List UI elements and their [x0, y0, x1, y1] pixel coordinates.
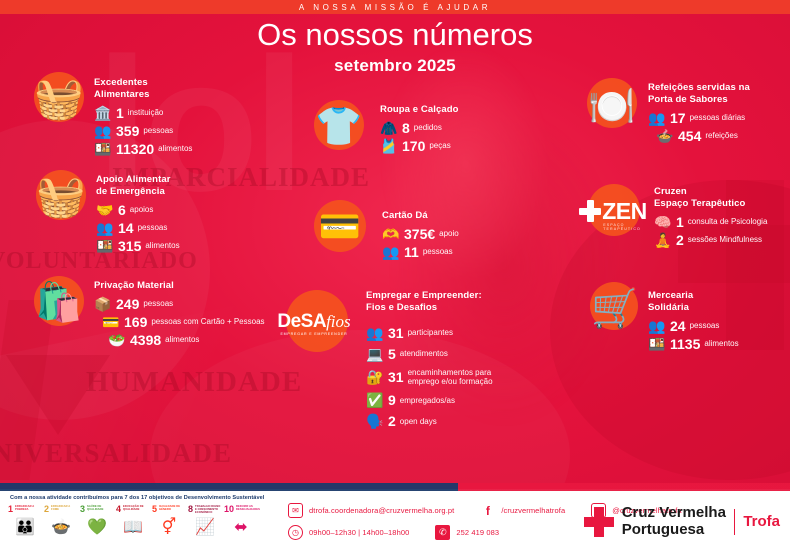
helping-hands-icon: 🤝 [96, 203, 114, 217]
stat-value: 2 [676, 233, 684, 247]
brain-hands-icon: 🧠 [654, 215, 672, 229]
stat-value: 315 [118, 239, 141, 253]
sdg-number: 8 [188, 505, 193, 514]
stat-label: instituição [128, 108, 164, 117]
stat-value: 31 [388, 370, 404, 384]
mission-strip-text: A NOSSA MISSÃO É AJUDAR [299, 3, 491, 12]
desafios-logo-main: DeSA [277, 311, 326, 332]
groceries-card-icon: 🛍️ [35, 284, 82, 322]
section-roupa-e-calcado: 👕 Roupa e Calçado 🧥 8 pedidos 🎽 170 peça… [308, 96, 459, 158]
stat-label: pessoas com Cartão + Pessoas [151, 317, 264, 326]
section-icon-wrap: ZEN ESPAÇO TERAPÊUTICO [574, 180, 652, 242]
stat-label: apoios [130, 205, 154, 214]
hand-holding-card-icon: 💳 [319, 210, 361, 244]
stat-row: ✅ 9 empregados/as [366, 393, 493, 407]
stat-label: peças [429, 141, 450, 150]
sdg-goal-8: 8 TRABALHO DIGNO E CRESCIMENTO ECONÓMICO… [188, 505, 222, 538]
sdg-growth-icon: 📈 [188, 516, 222, 538]
sdg-heartbeat-icon: 💚 [80, 516, 114, 538]
sdg-goal-4: 4 EDUCAÇÃO DE QUALIDADE 📖 [116, 505, 150, 538]
section-title: Roupa e Calçado [380, 104, 459, 116]
stat-value: 454 [678, 129, 701, 143]
stat-row: 🧠 1 consulta de Psicologia [654, 215, 767, 229]
sdg-goal-5: 5 IGUALDADE DE GÉNERO ⚥ [152, 505, 186, 538]
stat-row: 🍱 315 alimentos [96, 239, 180, 253]
stat-label: pessoas [138, 223, 168, 232]
stat-value: 170 [402, 139, 425, 153]
stat-value: 9 [388, 393, 396, 407]
sdg-number: 2 [44, 505, 49, 514]
institution-icon: 🏛️ [94, 106, 112, 120]
stat-row: 🥗 4398 alimentos [108, 333, 265, 347]
stat-label: pessoas [143, 126, 173, 135]
stat-value: 4398 [130, 333, 161, 347]
sdg-bowl-icon: 🍲 [44, 516, 78, 538]
stat-label: atendimentos [400, 349, 448, 358]
people-group-icon: 👥 [648, 319, 666, 333]
grocery-box-icon: 📦 [94, 297, 112, 311]
stat-value: 1 [676, 215, 684, 229]
sdg-goal-1: 1 ERRADICAR A POBREZA 👪 [8, 505, 42, 538]
shopping-basket-food-icon: 🧺 [34, 79, 84, 119]
section-icon-wrap: 💳 [300, 196, 380, 258]
section-icon-wrap: DeSAfios EMPREGAR E EMPREENDER [266, 290, 362, 356]
section-title: Excedentes Alimentares [94, 77, 192, 101]
stat-row: 🏛️ 1 instituição [94, 106, 192, 120]
stat-row: 👥 17 pessoas diárias [648, 111, 750, 125]
stat-label: alimentos [158, 144, 192, 153]
stat-label: pessoas [690, 321, 720, 330]
red-cross-icon [584, 507, 614, 537]
section-body: Apoio Alimentar de Emergência 🤝 6 apoios… [96, 174, 180, 257]
sdg-equality-icon: ⬌ [224, 516, 258, 538]
section-body: Roupa e Calçado 🧥 8 pedidos 🎽 170 peças [380, 104, 459, 157]
stat-label: alimentos [704, 339, 738, 348]
section-icon-wrap: 🛒 [584, 278, 646, 340]
sdg-number: 4 [116, 505, 121, 514]
stat-value: 249 [116, 297, 139, 311]
sdg-text: SAÚDE DE QUALIDADE [87, 505, 114, 511]
section-icon-wrap: 🧺 [30, 166, 92, 228]
stat-row: 🫶 375€ apoio [382, 227, 459, 241]
stat-label: apoio [439, 229, 459, 238]
sdg-number: 3 [80, 505, 85, 514]
section-title: Cruzen Espaço Terapêutico [654, 186, 767, 210]
clothes-hanger-icon: 🧥 [380, 121, 398, 135]
phone-icon: ✆ [435, 525, 450, 540]
brand-city: Trofa [743, 513, 780, 530]
page-title: Os nossos números [0, 18, 790, 52]
stat-value: 6 [118, 203, 126, 217]
section-icon-wrap: 🛍️ [26, 272, 92, 334]
stat-value: 1135 [670, 337, 700, 351]
sdg-text: IGUALDADE DE GÉNERO [159, 505, 186, 511]
desafios-logo-script: fios [326, 312, 351, 331]
food-crate-icon: 🍱 [96, 239, 114, 253]
stat-value: 375€ [404, 227, 435, 241]
sdg-note: Com a nossa atividade contribuímos para … [10, 495, 264, 501]
zen-logo-text: ZEN [602, 198, 647, 225]
section-refeicoes-porta-de-sabores: 🍽️ Refeições servidas na Porta de Sabore… [578, 76, 750, 147]
desk-service-icon: 💻 [366, 347, 384, 361]
people-group-icon: 👥 [648, 111, 666, 125]
stat-label: empregados/as [400, 396, 455, 405]
brand-logo: Cruz Vermelha Portuguesa Trofa [584, 505, 780, 538]
desafios-logo-sub: EMPREGAR E EMPREENDER [277, 332, 350, 336]
facebook-text[interactable]: /cruzvermelhatrofa [501, 506, 565, 515]
stat-value: 24 [670, 319, 686, 333]
stat-row: 📦 249 pessoas [94, 297, 265, 311]
soup-bowl-icon: 🍲 [656, 129, 674, 143]
stat-label: pessoas [423, 247, 453, 256]
stat-value: 1 [116, 106, 124, 120]
stat-row: 💻 5 atendimentos [366, 347, 493, 361]
stat-row: 👥 31 participantes [366, 326, 493, 340]
section-cruzen-espaco-terapeutico: ZEN ESPAÇO TERAPÊUTICO Cruzen Espaço Ter… [574, 180, 767, 251]
stat-label: pessoas diárias [690, 113, 746, 122]
clock-icon: ◷ [288, 525, 303, 540]
food-crate-icon: 🍱 [94, 142, 112, 156]
section-body: Mercearia Solidária 👥 24 pessoas 🍱 1135 … [648, 290, 739, 355]
sdg-number: 1 [8, 505, 13, 514]
assorted-food-icon: 🥗 [108, 333, 126, 347]
section-body: Empregar e Empreender: Fios e Desafios 👥… [366, 290, 493, 432]
people-group-icon: 👥 [94, 124, 112, 138]
stat-row: 🍲 454 refeições [656, 129, 750, 143]
section-body: Refeições servidas na Porta de Sabores 👥… [648, 82, 750, 147]
participants-icon: 👥 [366, 326, 384, 340]
section-icon-wrap: 🧺 [28, 68, 90, 130]
sdg-gender-icon: ⚥ [152, 516, 186, 538]
brand-divider [734, 509, 735, 535]
stat-value: 11320 [116, 142, 154, 156]
sdg-goal-2: 2 ERRADICAR A FOME 🍲 [44, 505, 78, 538]
fruit-basket-cross-icon: 🧺 [36, 177, 86, 217]
zen-logo-sub: ESPAÇO TERAPÊUTICO [603, 223, 647, 231]
stat-label: consulta de Psicologia [688, 217, 768, 226]
stat-label: encaminhamentos para emprego e/ou formaç… [408, 368, 493, 386]
stat-value: 5 [388, 347, 396, 361]
stat-label: participantes [408, 328, 453, 337]
people-group-icon: 👥 [382, 245, 400, 259]
stat-label: sessões Mindfulness [688, 235, 762, 244]
sdg-number: 5 [152, 505, 157, 514]
stat-value: 8 [402, 121, 410, 135]
section-body: Cruzen Espaço Terapêutico 🧠 1 consulta d… [654, 186, 767, 251]
stat-row: 👥 359 pessoas [94, 124, 192, 138]
section-excedentes-alimentares: 🧺 Excedentes Alimentares 🏛️ 1 instituiçã… [28, 68, 192, 160]
stat-label: alimentos [165, 335, 199, 344]
section-title: Refeições servidas na Porta de Sabores [648, 82, 750, 106]
stat-value: 11 [404, 245, 419, 259]
email-icon: ✉ [288, 503, 303, 518]
stat-value: 359 [116, 124, 139, 138]
stat-label: pedidos [414, 123, 442, 132]
meditation-icon: 🧘 [654, 233, 672, 247]
stat-label: pessoas [143, 299, 173, 308]
section-icon-wrap: 🍽️ [578, 76, 646, 138]
footer-accent-bar [0, 483, 790, 491]
section-title: Privação Material [94, 280, 265, 292]
facebook-icon: f [480, 503, 495, 518]
stat-value: 2 [388, 414, 396, 428]
red-cross-icon [579, 200, 601, 222]
stat-value: 17 [670, 111, 686, 125]
sdg-goal-10: 10 REDUZIR AS DESIGUALDADES ⬌ [224, 505, 258, 538]
open-day-icon: 🗣️ [366, 414, 384, 428]
section-title: Mercearia Solidária [648, 290, 739, 314]
section-title: Apoio Alimentar de Emergência [96, 174, 180, 198]
stat-row: 💳 169 pessoas com Cartão + Pessoas [102, 315, 265, 329]
stat-row: 🔐 31 encaminhamentos para emprego e/ou f… [366, 368, 493, 386]
footer: Com a nossa atividade contribuímos para … [0, 489, 790, 559]
section-title: Empregar e Empreender: Fios e Desafios [366, 290, 493, 314]
brand-name: Cruz Vermelha Portuguesa [622, 505, 726, 538]
grocery-bag-heart-icon: 🛒 [591, 290, 638, 328]
sdg-text: ERRADICAR A POBREZA [15, 505, 42, 511]
stat-row: 👥 24 pessoas [648, 319, 739, 333]
stat-value: 169 [124, 315, 147, 329]
people-group-icon: 👥 [96, 221, 114, 235]
stat-row: 🧘 2 sessões Mindfulness [654, 233, 767, 247]
email-text[interactable]: dtrofa.coordenadora@cruzvermelha.org.pt [309, 506, 454, 515]
stat-row: 👥 11 pessoas [382, 245, 459, 259]
stat-row: 🍱 11320 alimentos [94, 142, 192, 156]
shirt-sneakers-icon: 👕 [315, 108, 362, 146]
mission-strip: A NOSSA MISSÃO É AJUDAR [0, 0, 790, 14]
stat-label: refeições [705, 131, 737, 140]
sdg-text: TRABALHO DIGNO E CRESCIMENTO ECONÓMICO [195, 505, 222, 514]
stat-row: 🎽 170 peças [380, 139, 459, 153]
infographic-poster: lol IMPARCIALIDADE VOLUNTARIADO HUMANIDA… [0, 0, 790, 559]
stat-row: 🍱 1135 alimentos [648, 337, 739, 351]
stat-row: 🗣️ 2 open days [366, 414, 493, 428]
sdg-family-icon: 👪 [8, 516, 42, 538]
stat-value: 14 [118, 221, 134, 235]
stat-value: 31 [388, 326, 404, 340]
hours-text: 09h00–12h30 | 14h00–18h00 [309, 528, 409, 537]
watermark-universalidade: UNIVERSALIDADE [0, 438, 232, 469]
desafios-logo: DeSAfios EMPREGAR E EMPREENDER [277, 311, 350, 336]
sdg-text: REDUZIR AS DESIGUALDADES [236, 505, 260, 511]
payment-card-icon: 💳 [102, 315, 120, 329]
clothing-rack-icon: 🎽 [380, 139, 398, 153]
stat-label: open days [400, 417, 437, 426]
stat-row: 👥 14 pessoas [96, 221, 180, 235]
sdg-row: 1 ERRADICAR A POBREZA 👪 2 ERRADICAR A FO… [8, 505, 258, 538]
section-body: Privação Material 📦 249 pessoas 💳 169 pe… [94, 280, 265, 351]
food-crate-icon: 🍱 [648, 337, 666, 351]
referral-icon: 🔐 [366, 370, 384, 384]
stat-label: alimentos [145, 241, 179, 250]
section-privacao-material: 🛍️ Privação Material 📦 249 pessoas 💳 169… [26, 272, 265, 351]
sdg-text: EDUCAÇÃO DE QUALIDADE [123, 505, 150, 511]
phone-text[interactable]: 252 419 083 [456, 528, 499, 537]
section-body: Excedentes Alimentares 🏛️ 1 instituição … [94, 77, 192, 160]
sdg-number: 10 [224, 505, 234, 514]
check-circle-icon: ✅ [366, 393, 384, 407]
sdg-text: ERRADICAR A FOME [51, 505, 78, 511]
plate-cutlery-icon: 🍽️ [588, 88, 635, 126]
section-apoio-alimentar-de-emergencia: 🧺 Apoio Alimentar de Emergência 🤝 6 apoi… [30, 166, 180, 257]
donation-heart-icon: 🫶 [382, 227, 400, 241]
sdg-goal-3: 3 SAÚDE DE QUALIDADE 💚 [80, 505, 114, 538]
section-title: Cartão Dá [382, 210, 459, 222]
section-body: Cartão Dá 🫶 375€ apoio 👥 11 pessoas [382, 210, 459, 263]
section-icon-wrap: 👕 [308, 96, 370, 158]
section-mercearia-solidaria: 🛒 Mercearia Solidária 👥 24 pessoas 🍱 113… [584, 278, 739, 355]
section-empregar-e-empreender: DeSAfios EMPREGAR E EMPREENDER Empregar … [266, 290, 493, 432]
zen-logo: ZEN ESPAÇO TERAPÊUTICO [579, 198, 647, 225]
sdg-book-icon: 📖 [116, 516, 150, 538]
section-cartao-da: 💳 Cartão Dá 🫶 375€ apoio 👥 11 pessoas [300, 196, 459, 263]
stat-row: 🤝 6 apoios [96, 203, 180, 217]
stat-row: 🧥 8 pedidos [380, 121, 459, 135]
